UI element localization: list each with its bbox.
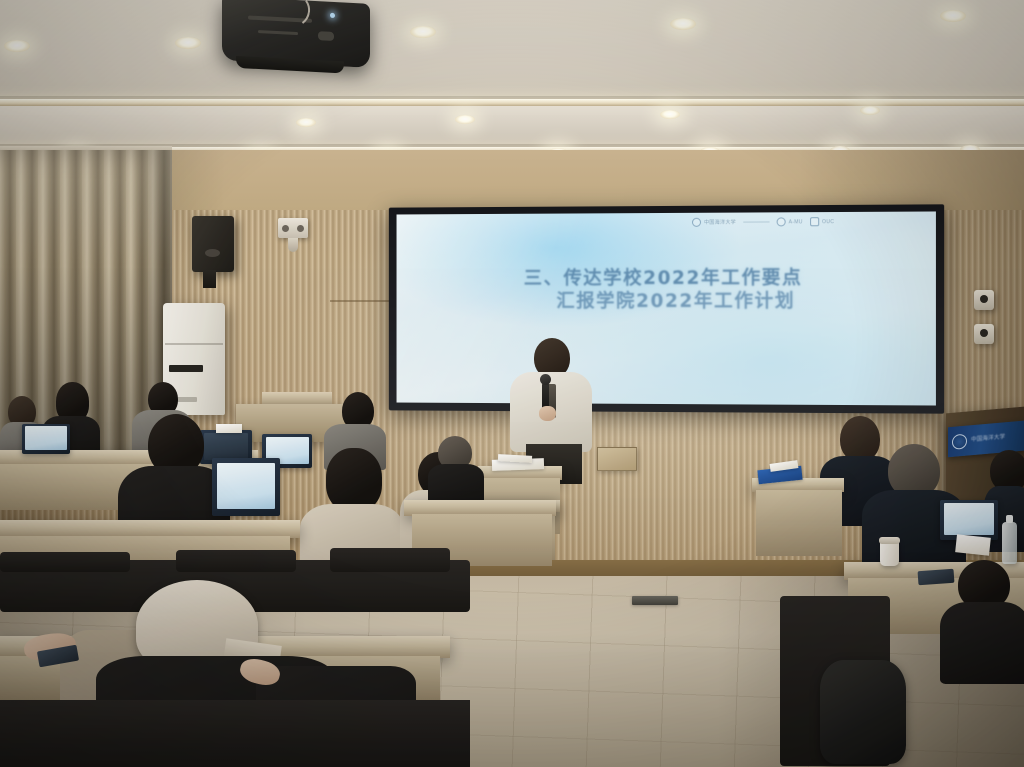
downlight bbox=[455, 115, 475, 124]
laptop-lid bbox=[212, 458, 280, 516]
downlight bbox=[660, 110, 680, 119]
projector-led-icon bbox=[330, 13, 335, 18]
cove-light-1 bbox=[0, 99, 1024, 106]
ouc-logo-icon bbox=[810, 217, 819, 226]
sensor-lens-icon bbox=[297, 225, 304, 232]
laptop-lid bbox=[22, 424, 70, 454]
laptop bbox=[940, 500, 998, 540]
camera-body-upper bbox=[974, 290, 994, 310]
downlight bbox=[860, 106, 880, 115]
camera-body-lower bbox=[974, 324, 994, 344]
slide-line-1: 三、传达学校2022年工作要点 bbox=[397, 266, 936, 290]
attendee-right-front bbox=[940, 560, 1024, 680]
ceiling-band-upper bbox=[0, 0, 1024, 96]
desk-right-upper-front bbox=[756, 490, 842, 556]
downlight bbox=[4, 40, 30, 52]
attendee-head bbox=[326, 448, 382, 512]
chair-back bbox=[330, 548, 450, 572]
attendee-torso bbox=[940, 602, 1024, 684]
downlight bbox=[296, 118, 316, 127]
wall-sensor bbox=[278, 218, 308, 238]
speaker-cone-icon bbox=[205, 249, 220, 257]
university-seal-icon bbox=[692, 218, 701, 227]
floor-cable-plate bbox=[632, 596, 678, 605]
water-bottle bbox=[1002, 522, 1017, 564]
laptop bbox=[22, 424, 70, 454]
slide-logo-text: 中国海洋大学 bbox=[704, 219, 736, 226]
slide-line-2: 汇报学院2022年工作计划 bbox=[397, 290, 936, 313]
slide-logo-4: OUC bbox=[810, 217, 834, 226]
downlight bbox=[175, 37, 201, 49]
projector-detail bbox=[258, 30, 298, 35]
slide-logo-text: OUC bbox=[822, 219, 834, 225]
projection-screen: 中国海洋大学 A-MU OUC 三、传达学校2022年工作要点 汇报学院2022… bbox=[397, 211, 936, 405]
slide-logo-1: 中国海洋大学 bbox=[692, 218, 736, 227]
slide-logo-divider bbox=[743, 221, 769, 222]
presenter-hand bbox=[539, 406, 556, 421]
ac-vent-icon bbox=[169, 365, 203, 372]
chair-back bbox=[0, 552, 130, 572]
downlight bbox=[940, 10, 966, 22]
laptop-lid bbox=[940, 500, 998, 540]
partner-logo-icon bbox=[776, 217, 785, 226]
attendee-mid-center-3 bbox=[428, 436, 484, 500]
security-camera bbox=[974, 290, 994, 346]
laptop-screen bbox=[944, 503, 994, 535]
downlight bbox=[410, 26, 436, 38]
papers bbox=[955, 534, 991, 555]
front-chair-back bbox=[0, 700, 470, 767]
ceiling bbox=[0, 0, 1024, 170]
laptop-screen bbox=[25, 426, 66, 450]
camera-lens-icon bbox=[980, 295, 988, 303]
backpack bbox=[820, 660, 906, 764]
projector-lens bbox=[318, 31, 334, 41]
laptop bbox=[212, 458, 280, 516]
slide-heading-text: 传达学校2022年工作要点 bbox=[563, 268, 802, 289]
slide-heading-number: 三、 bbox=[524, 268, 564, 289]
downlight bbox=[670, 18, 696, 30]
slide-header-logos: 中国海洋大学 A-MU OUC bbox=[692, 215, 932, 229]
conference-room-photo: 中国海洋大学 A-MU OUC 三、传达学校2022年工作要点 汇报学院2022… bbox=[0, 0, 1024, 767]
podium-banner-text: 中国海洋大学 bbox=[971, 434, 1005, 443]
slide-logo-text: A-MU bbox=[789, 219, 803, 225]
ac-seam bbox=[165, 343, 223, 345]
wall-speaker bbox=[192, 216, 234, 272]
wall-vent-panel bbox=[597, 447, 637, 471]
projection-screen-frame: 中国海洋大学 A-MU OUC 三、传达学校2022年工作要点 汇报学院2022… bbox=[389, 204, 944, 413]
laptop-screen bbox=[217, 463, 275, 509]
wall-sensor-mount bbox=[288, 238, 298, 252]
coffee-cup bbox=[880, 540, 899, 566]
sensor-lens-icon bbox=[282, 225, 289, 232]
slide-logo-3: A-MU bbox=[776, 217, 802, 226]
camera-lens-icon bbox=[980, 329, 988, 337]
chair-back bbox=[176, 550, 296, 572]
slide-content: 三、传达学校2022年工作要点 汇报学院2022年工作计划 bbox=[397, 266, 936, 313]
